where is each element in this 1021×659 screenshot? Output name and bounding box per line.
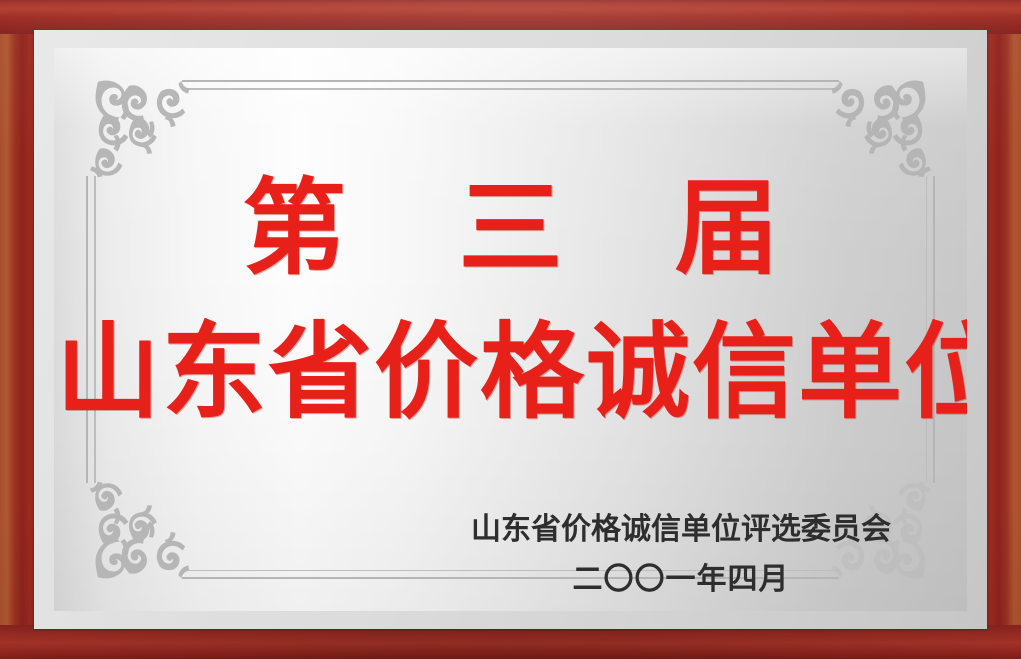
signature-organization: 山东省价格诚信单位评选委员会 <box>471 508 891 552</box>
plaque-mat: 第 三 届 山东省价格诚信单位 山东省价格诚信单位评选委员会 二〇〇一年四月 <box>34 30 987 629</box>
plaque-title-line-1: 第 三 届 <box>54 176 967 280</box>
plaque-signature-block: 山东省价格诚信单位评选委员会 二〇〇一年四月 <box>471 508 891 601</box>
plaque-plate: 第 三 届 山东省价格诚信单位 山东省价格诚信单位评选委员会 二〇〇一年四月 <box>54 48 967 611</box>
plaque-content: 第 三 届 山东省价格诚信单位 山东省价格诚信单位评选委员会 二〇〇一年四月 <box>54 48 967 611</box>
signature-date: 二〇〇一年四月 <box>471 558 891 602</box>
plaque-title-line-2: 山东省价格诚信单位 <box>54 320 967 424</box>
award-plaque: 第 三 届 山东省价格诚信单位 山东省价格诚信单位评选委员会 二〇〇一年四月 <box>0 0 1021 659</box>
